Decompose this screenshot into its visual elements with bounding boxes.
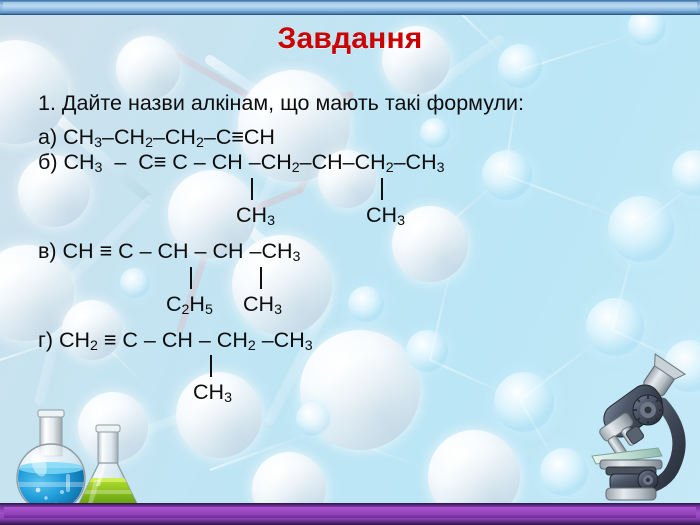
bond-line [190,267,192,289]
substituent-label: CH3 [236,204,275,229]
bottom-decorative-bar [0,503,700,525]
top-bar-highlight [3,2,697,11]
substituent-label: C2H5 [166,293,213,318]
microscope-icon [566,352,698,502]
bond-line [381,178,383,200]
bond-line [210,355,212,377]
bond-line [260,267,262,289]
page-title: Завдання [0,22,700,56]
formula-v-chain: в) CH ≡ C – CH – CH –CH3 [38,240,668,265]
bond-line [251,178,253,200]
formula-b-chain: б) CH3 – C≡ C – CH –CH2–CH–CH2–CH3 [38,151,668,176]
formula-v-bonds [38,265,668,293]
formula-g-chain: г) CH2 ≡ C – CH – CH2 –CH3 [38,329,668,354]
substituent-label: CH3 [366,204,405,229]
formula-v-substituents: C2H5 CH3 [38,293,668,329]
formula-b-bonds [38,176,668,204]
formula-b-substituents: CH3 CH3 [38,204,668,240]
task-prompt: 1. Дайте назви алкінам, що мають такі фо… [38,92,668,126]
bottom-bar-highlight [4,507,696,518]
substituent-label: CH3 [193,381,232,406]
substituent-label: CH3 [243,293,282,318]
slide-canvas: Завдання 1. Дайте назви алкінам, що мают… [0,0,700,525]
formula-a-chain: а) CH3–CH2–CH2–C≡CH [38,126,668,151]
top-decorative-bar [0,0,700,15]
